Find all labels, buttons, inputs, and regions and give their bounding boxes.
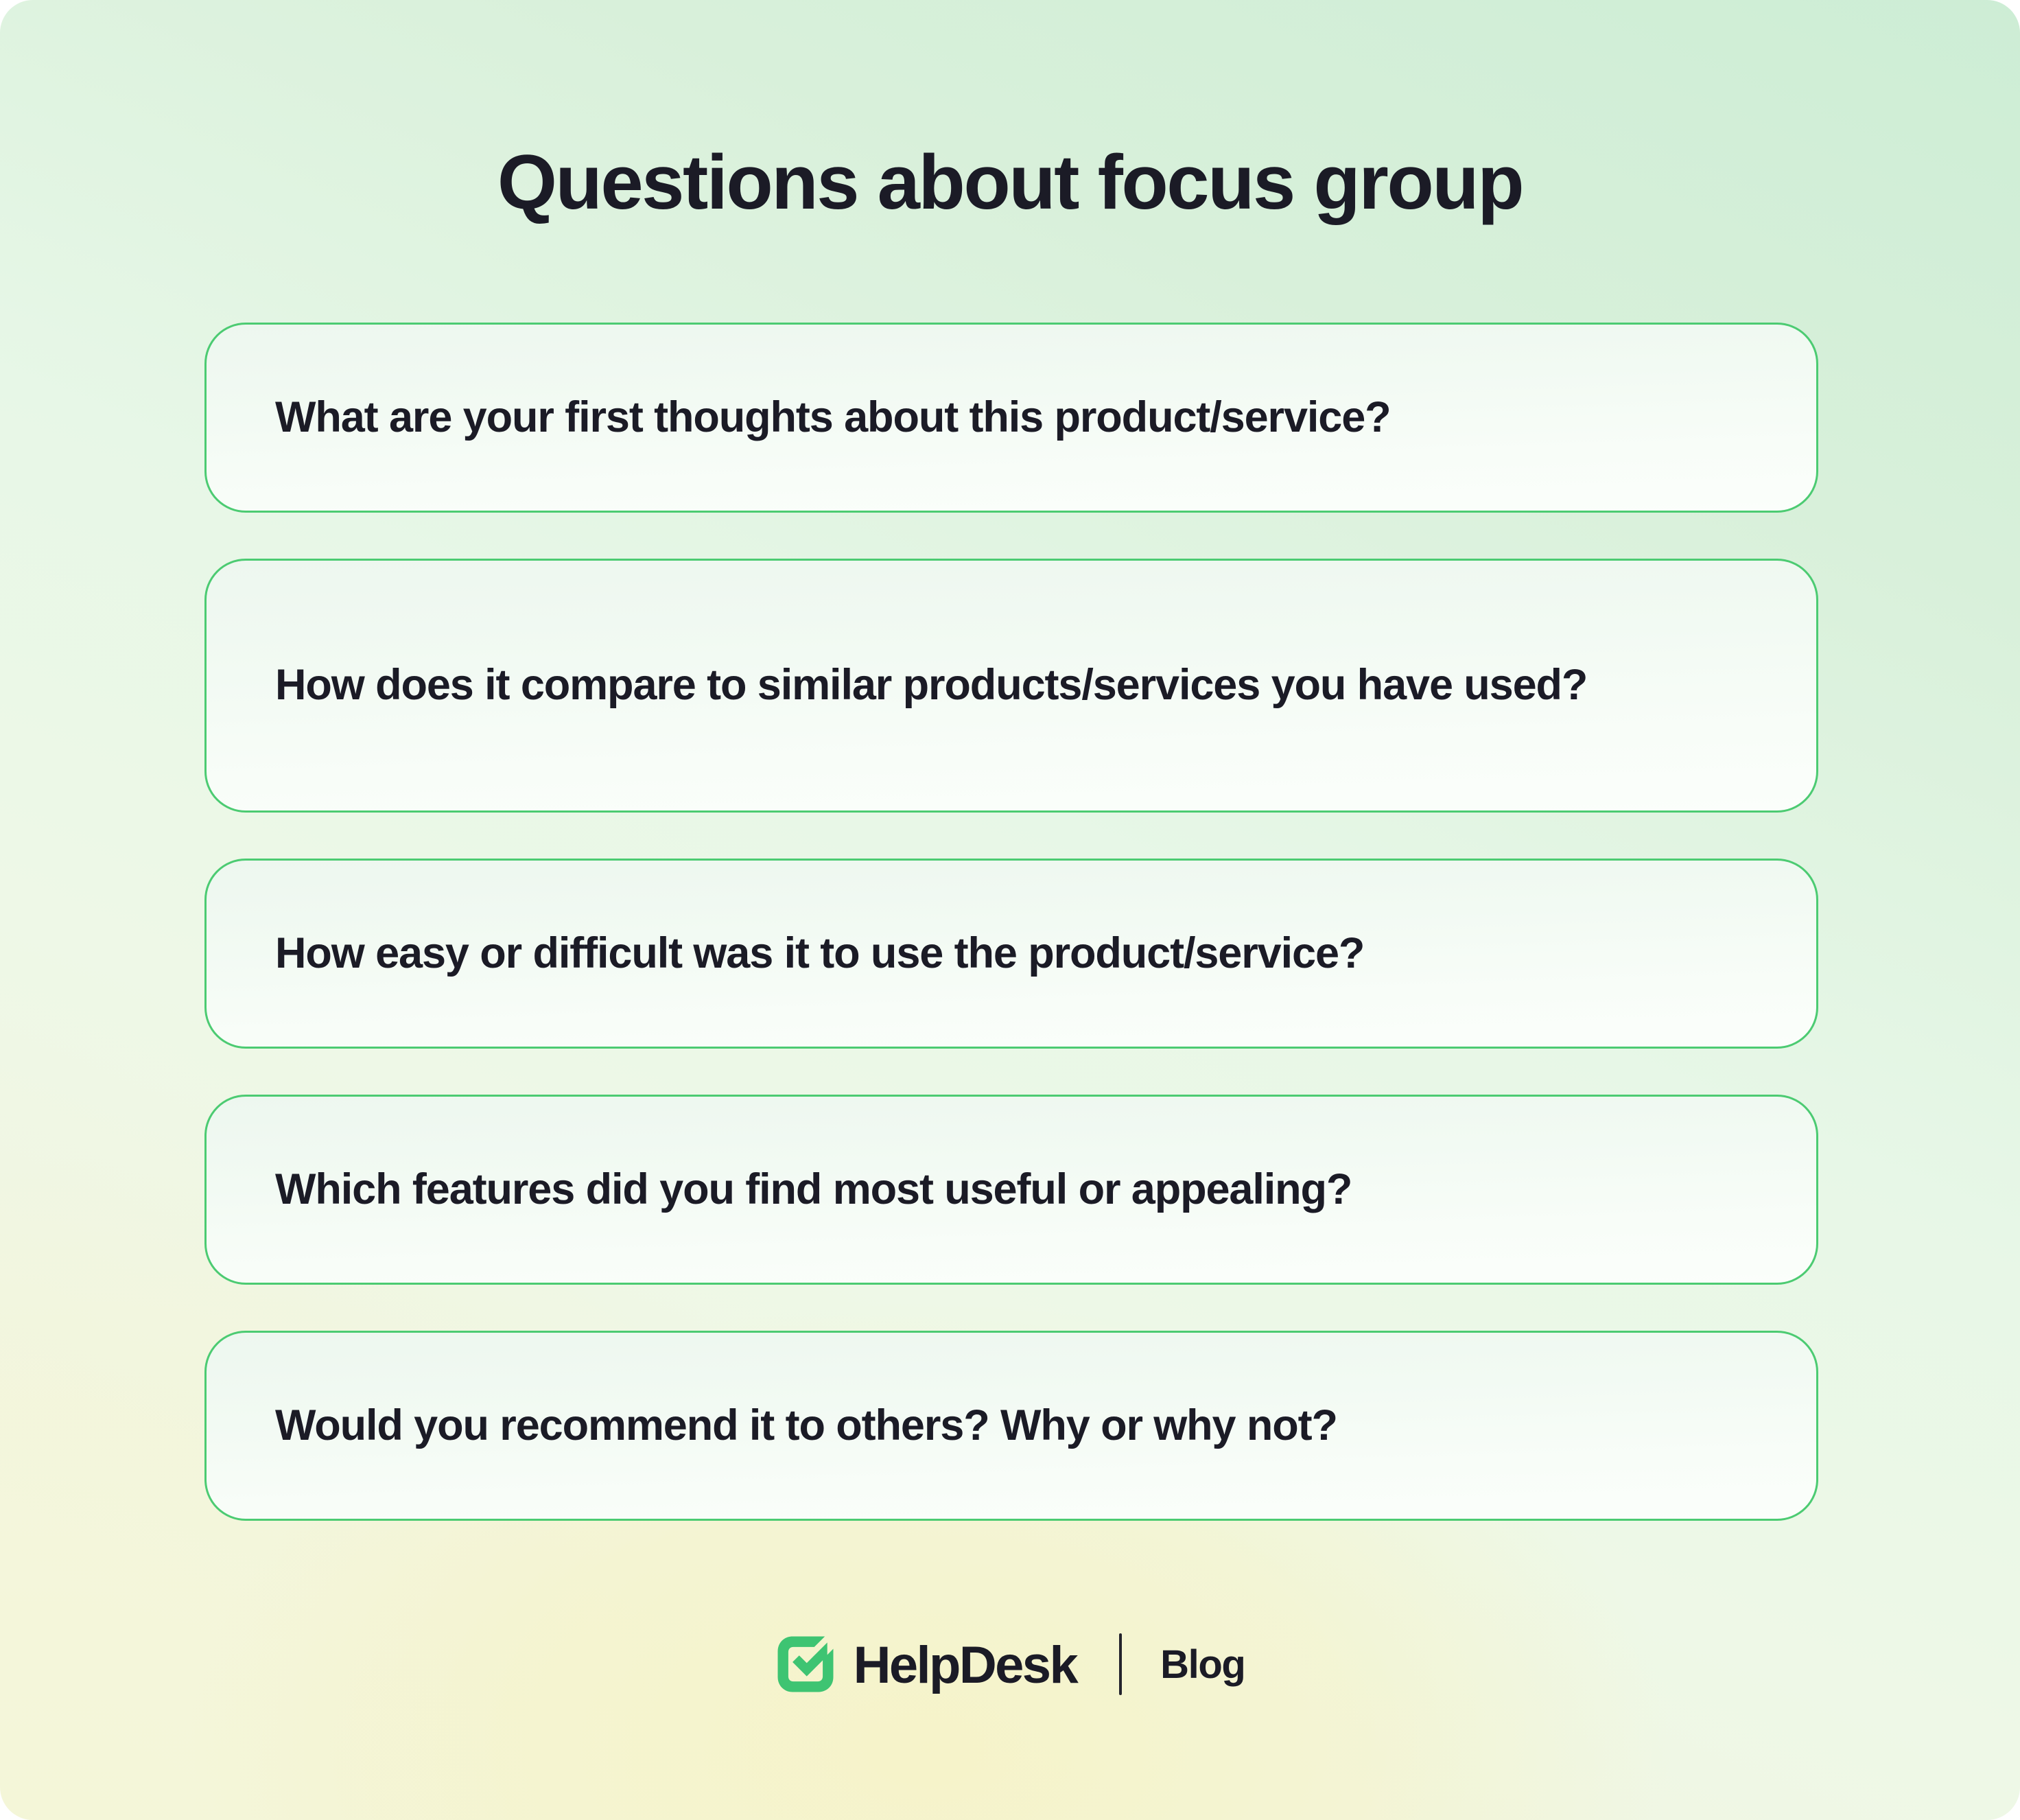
question-card[interactable]: Which features did you find most useful …: [204, 1095, 1818, 1285]
footer: HelpDesk Blog: [0, 1633, 2020, 1695]
question-text: How does it compare to similar products/…: [275, 657, 1587, 714]
question-card-list: What are your first thoughts about this …: [204, 323, 1818, 1567]
question-text: Which features did you find most useful …: [275, 1161, 1352, 1219]
infographic-canvas: Questions about focus group What are you…: [0, 0, 2020, 1820]
question-text: How easy or difficult was it to use the …: [275, 925, 1364, 983]
helpdesk-wordmark: HelpDesk: [854, 1640, 1077, 1692]
question-text: What are your first thoughts about this …: [275, 389, 1391, 447]
question-card[interactable]: What are your first thoughts about this …: [204, 323, 1818, 513]
footer-divider: [1119, 1633, 1122, 1695]
page-title: Questions about focus group: [0, 142, 2020, 224]
question-text: Would you recommend it to others? Why or…: [275, 1397, 1337, 1455]
helpdesk-brand-lockup[interactable]: HelpDesk: [775, 1634, 1077, 1694]
question-card[interactable]: Would you recommend it to others? Why or…: [204, 1331, 1818, 1521]
helpdesk-checkmark-icon: [775, 1634, 836, 1694]
blog-link[interactable]: Blog: [1160, 1645, 1245, 1685]
question-card[interactable]: How does it compare to similar products/…: [204, 559, 1818, 813]
question-card[interactable]: How easy or difficult was it to use the …: [204, 859, 1818, 1049]
